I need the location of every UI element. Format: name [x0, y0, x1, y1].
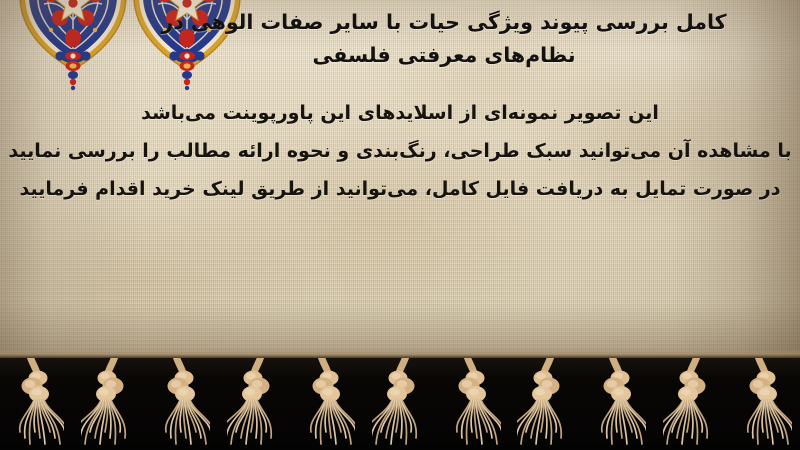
title-line-1: کامل بررسی پیوند ویژگی حیات با سایر صفات… [161, 10, 726, 34]
tassel [736, 358, 792, 450]
tassel [372, 358, 428, 450]
paper-bottom-edge [0, 348, 800, 358]
slide-body: این تصویر نمونه‌ای از اسلایدهای این پاور… [0, 104, 800, 199]
title-line-2: نظام‌های معرفتی فلسفی [312, 43, 575, 67]
body-line-1: این تصویر نمونه‌ای از اسلایدهای این پاور… [0, 104, 800, 123]
tassel [154, 358, 210, 450]
tassel [590, 358, 646, 450]
body-line-3: در صورت تمایل به دریافت فایل کامل، می‌تو… [0, 180, 800, 199]
tassel-fringe [0, 358, 800, 450]
slide-text-layer: کامل بررسی پیوند ویژگی حیات با سایر صفات… [0, 0, 800, 360]
tassel [299, 358, 355, 450]
tassel [517, 358, 573, 450]
tassel [8, 358, 64, 450]
tassel [81, 358, 137, 450]
slide-title: کامل بررسی پیوند ویژگی حیات با سایر صفات… [124, 6, 764, 72]
tassel [227, 358, 283, 450]
tassel [445, 358, 501, 450]
body-line-2: با مشاهده آن می‌توانید سبک طراحی، رنگ‌بن… [0, 142, 800, 161]
tassel [663, 358, 719, 450]
presentation-slide: کامل بررسی پیوند ویژگی حیات با سایر صفات… [0, 0, 800, 450]
